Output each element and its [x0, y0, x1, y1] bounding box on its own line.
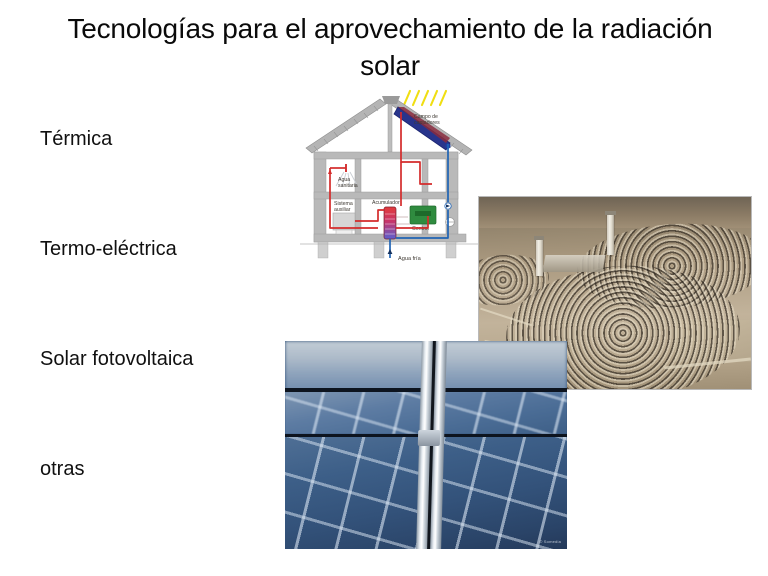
photo-watermark: © Somedia — [539, 539, 561, 544]
svg-text:auxiliar: auxiliar — [334, 207, 351, 213]
slide-canvas: Tecnologías para el aprovechamiento de l… — [0, 0, 768, 576]
roof-ridge — [382, 96, 400, 104]
solar-thermal-house-diagram: Campo de captadores — [300, 88, 482, 266]
roof-post — [388, 104, 392, 152]
sun-rays-icon — [404, 91, 446, 105]
storage-tank — [384, 207, 396, 239]
flow-arrow-up — [328, 169, 332, 174]
solar-tower-primary-receiver — [605, 211, 615, 216]
svg-text:captadores: captadores — [414, 120, 440, 126]
cold-water-arrow — [388, 249, 393, 254]
plant-buildings — [543, 255, 606, 272]
solar-tower-secondary — [536, 237, 543, 275]
svg-text:sanitaria: sanitaria — [338, 183, 358, 189]
pv-panel-photo: © Somedia — [285, 341, 567, 549]
solar-tower-secondary-receiver — [534, 236, 544, 240]
label-control: Control — [412, 226, 429, 232]
page-title: Tecnologías para el aprovechamiento de l… — [60, 10, 720, 84]
tech-label-solar-fotovoltaica: Solar fotovoltaica — [40, 348, 193, 370]
tech-label-termo-electrica: Termo-eléctrica — [40, 238, 177, 260]
tech-label-otras: otras — [40, 458, 84, 480]
label-agua-fria: Agua fría — [398, 256, 422, 262]
solar-tower-primary — [607, 212, 614, 254]
tech-label-termica: Térmica — [40, 128, 112, 150]
panel-clamp — [417, 430, 439, 446]
label-acumulador: Acumulador — [372, 200, 400, 206]
